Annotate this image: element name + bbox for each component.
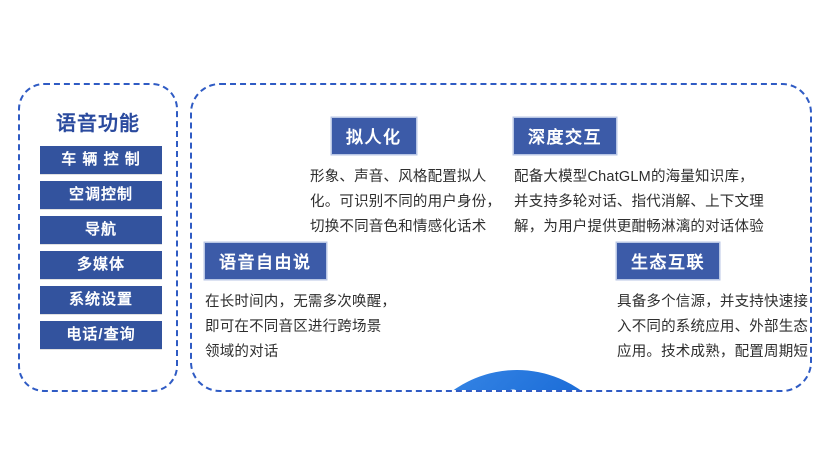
card-persona-body: 形象、声音、风格配置拟人 化。可识别不同的用户身份， 切换不同音色和情感化话术 [310,165,505,240]
card-persona: 拟人化 形象、声音、风格配置拟人 化。可识别不同的用户身份， 切换不同音色和情感… [310,118,505,240]
voice-feature-list: 车 辆 控 制 空调控制 导航 多媒体 系统设置 电话/查询 [40,146,162,356]
card-free-speech-chip[interactable]: 语音自由说 [205,243,326,279]
feature-chip-air-conditioning[interactable]: 空调控制 [40,181,162,209]
left-panel-title: 语音功能 [20,107,176,136]
card-persona-chip[interactable]: 拟人化 [332,118,416,154]
card-ecosystem: 生态互联 具备多个信源，并支持快速接 入不同的系统应用、外部生态 应用。技术成熟… [617,243,817,365]
card-ecosystem-chip[interactable]: 生态互联 [617,243,719,279]
user-verified-icon [494,388,540,392]
card-free-speech: 语音自由说 在长时间内，无需多次唤醒， 即可在不同音区进行跨场景 领域的对话 [205,243,420,365]
card-ecosystem-body: 具备多个信源，并支持快速接 入不同的系统应用、外部生态 应用。技术成熟，配置周期… [617,290,817,365]
feature-chip-multimedia[interactable]: 多媒体 [40,251,162,279]
voice-function-panel: 语音功能 车 辆 控 制 空调控制 导航 多媒体 系统设置 电话/查询 [18,83,178,392]
interaction-hub: 4大交互特色 [407,370,627,392]
card-deep-interaction-body: 配备大模型ChatGLM的海量知识库， 并支持多轮对话、指代消解、上下文理 解，… [514,165,804,240]
card-deep-interaction-chip[interactable]: 深度交互 [514,118,616,154]
feature-chip-phone-query[interactable]: 电话/查询 [40,321,162,349]
card-deep-interaction: 深度交互 配备大模型ChatGLM的海量知识库， 并支持多轮对话、指代消解、上下… [514,118,804,240]
feature-chip-system-settings[interactable]: 系统设置 [40,286,162,314]
interaction-hub-inner: 4大交互特色 [407,370,627,392]
feature-chip-navigation[interactable]: 导航 [40,216,162,244]
card-free-speech-body: 在长时间内，无需多次唤醒， 即可在不同音区进行跨场景 领域的对话 [205,290,420,365]
feature-chip-vehicle-control[interactable]: 车 辆 控 制 [40,146,162,174]
